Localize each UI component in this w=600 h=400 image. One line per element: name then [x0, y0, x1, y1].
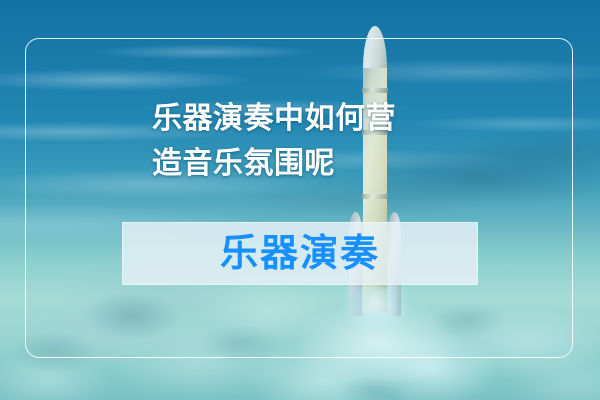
sky-background: [0, 0, 600, 400]
rocket-ring: [362, 88, 388, 93]
rocket-ring: [362, 194, 388, 199]
engine-exhaust-glow: [330, 286, 422, 366]
smoke-plume: [0, 0, 600, 400]
color-wash-overlay: [0, 0, 600, 400]
cirrus-clouds: [0, 0, 600, 400]
rocket-nose-cone: [363, 26, 387, 72]
keyword-banner: 乐器演奏: [122, 222, 478, 285]
cloud-shelf: [0, 0, 600, 400]
decorative-frame: [25, 38, 573, 358]
cover-card: 乐器演奏中如何营 造音乐氛围呢 乐器演奏: [0, 0, 600, 400]
smoke-shadow: [0, 0, 600, 400]
keyword-label: 乐器演奏: [220, 235, 380, 273]
page-title: 乐器演奏中如何营 造音乐氛围呢: [152, 96, 452, 186]
